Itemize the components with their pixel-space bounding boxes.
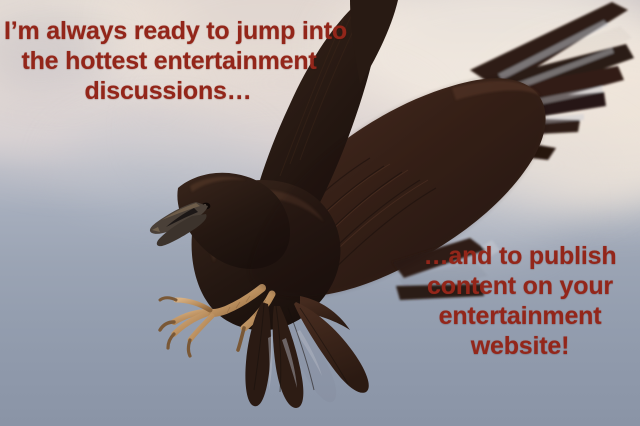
- cloud-shape: [480, 40, 640, 210]
- caption-bottom-line-1: …and to publish: [404, 241, 636, 271]
- cloud-shape: [60, 120, 260, 210]
- caption-bottom-line-4: website!: [404, 331, 636, 361]
- caption-top-line-2: the hottest entertainment: [0, 46, 356, 76]
- cloud-shape: [330, 0, 640, 140]
- meme-image: I’m always ready to jump into the hottes…: [0, 0, 640, 426]
- caption-top: I’m always ready to jump into the hottes…: [0, 16, 356, 106]
- cloud-shape: [430, 120, 630, 210]
- caption-top-line-3: discussions…: [0, 76, 356, 106]
- caption-bottom: …and to publish content on your entertai…: [404, 241, 636, 361]
- caption-bottom-line-3: entertainment: [404, 301, 636, 331]
- caption-bottom-line-2: content on your: [404, 271, 636, 301]
- caption-top-line-1: I’m always ready to jump into: [0, 16, 356, 46]
